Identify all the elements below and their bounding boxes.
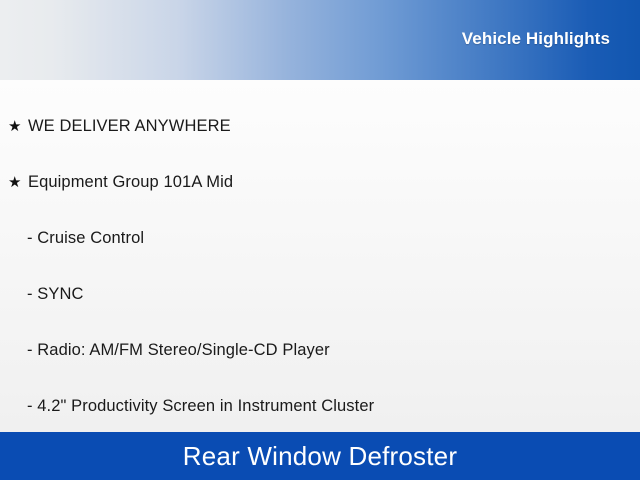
list-item-label: WE DELIVER ANYWHERE <box>28 117 231 136</box>
list-item-label: - SYNC <box>27 285 84 304</box>
list-item: - SYNC <box>0 266 640 322</box>
list-item-label: Equipment Group 101A Mid <box>28 173 233 192</box>
footer-banner: Rear Window Defroster <box>0 432 640 480</box>
list-item: - Cruise Control <box>0 210 640 266</box>
list-item-label: - Cruise Control <box>27 229 144 248</box>
footer-title: Rear Window Defroster <box>183 441 457 472</box>
list-item: - 4.2" Productivity Screen in Instrument… <box>0 378 640 434</box>
list-item: ★ WE DELIVER ANYWHERE <box>0 98 640 154</box>
list-item: - Radio: AM/FM Stereo/Single-CD Player <box>0 322 640 378</box>
header-title: Vehicle Highlights <box>462 29 610 49</box>
feature-list: ★ WE DELIVER ANYWHERE ★ Equipment Group … <box>0 98 640 434</box>
star-bullet-icon: ★ <box>8 175 28 190</box>
list-item-label: - 4.2" Productivity Screen in Instrument… <box>27 397 374 416</box>
star-bullet-icon: ★ <box>8 119 28 134</box>
header-banner: Vehicle Highlights <box>0 0 640 80</box>
list-item: ★ Equipment Group 101A Mid <box>0 154 640 210</box>
list-item-label: - Radio: AM/FM Stereo/Single-CD Player <box>27 341 330 360</box>
highlights-content: ★ WE DELIVER ANYWHERE ★ Equipment Group … <box>0 80 640 432</box>
vehicle-highlights-slide: Vehicle Highlights ★ WE DELIVER ANYWHERE… <box>0 0 640 480</box>
